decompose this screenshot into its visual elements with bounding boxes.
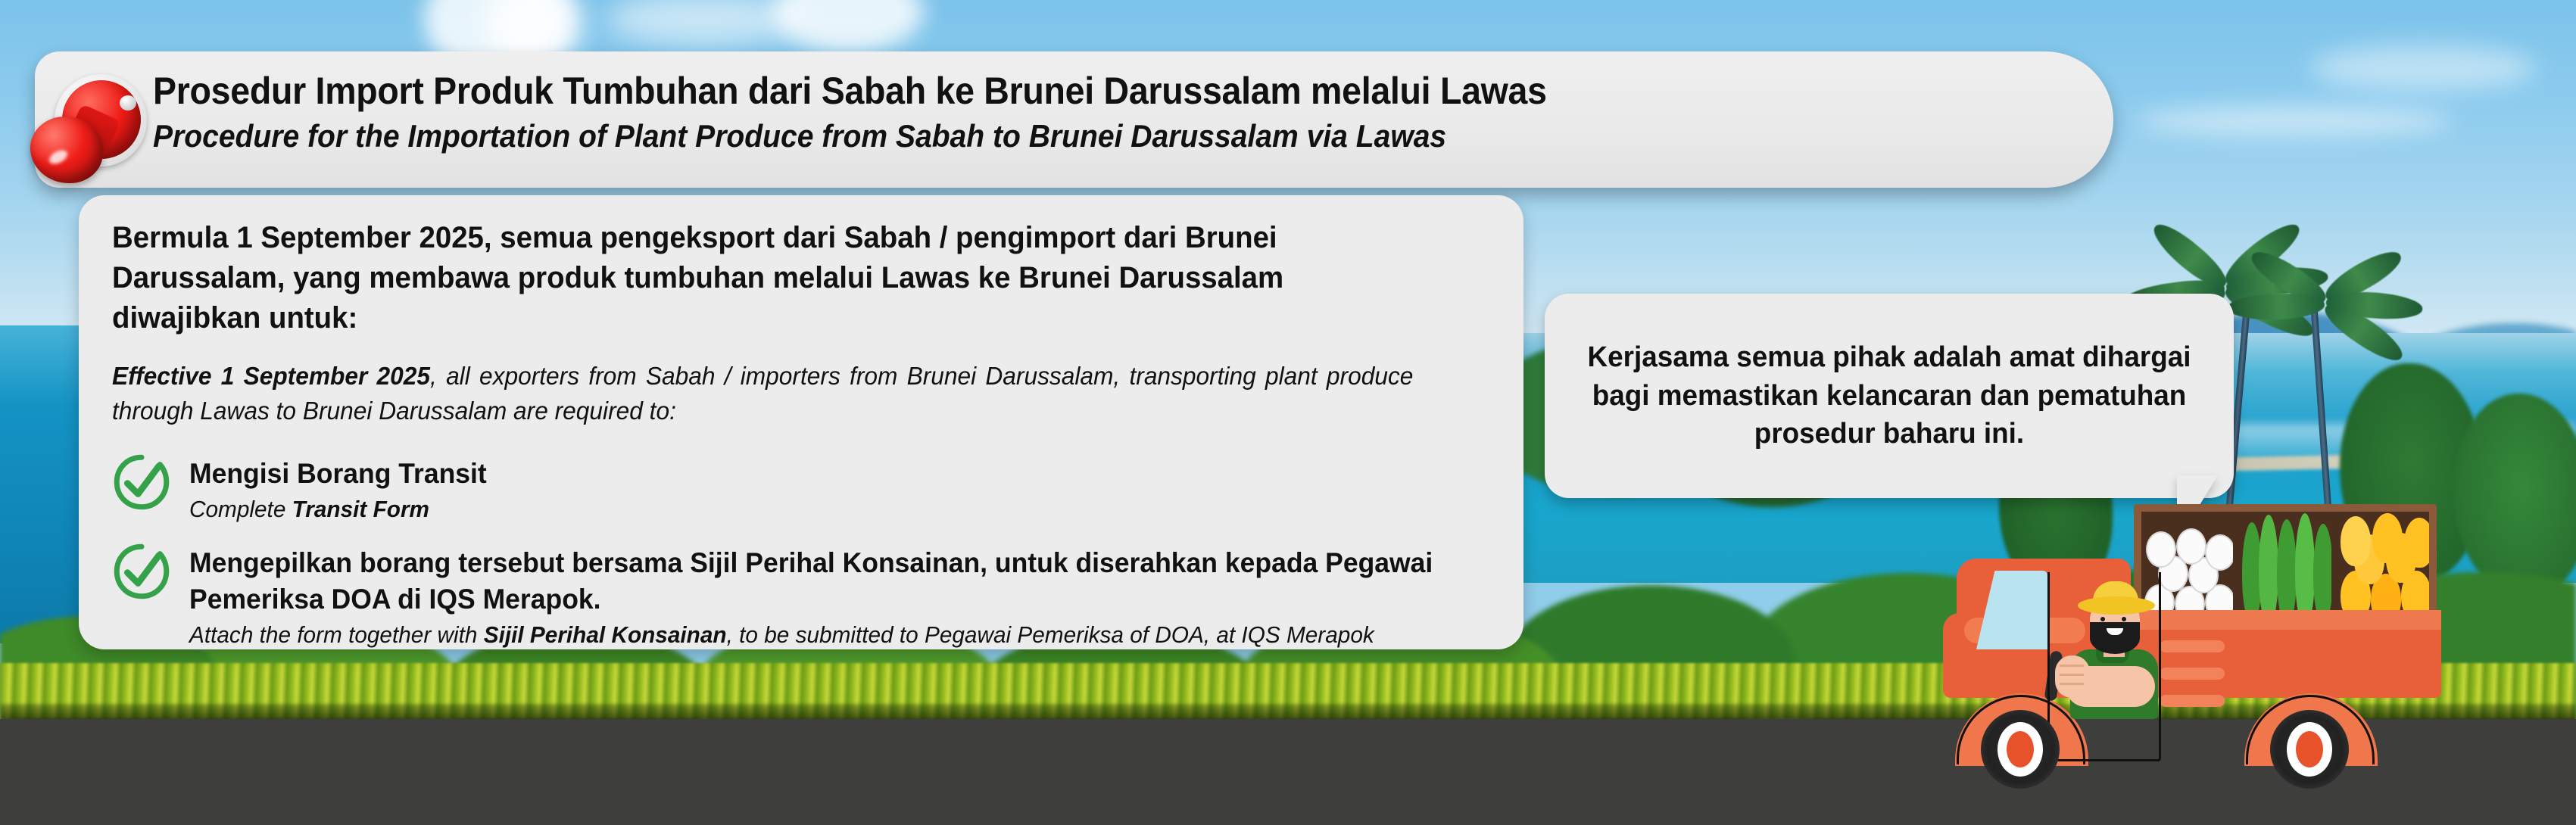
truck-wheel bbox=[1981, 710, 2060, 789]
cloud-icon bbox=[2135, 106, 2453, 136]
list-item: Mengisi Borang Transit Complete Transit … bbox=[112, 456, 1490, 525]
item-label-en: Attach the form together with Sijil Peri… bbox=[189, 620, 1438, 651]
cloud-icon bbox=[2309, 45, 2537, 91]
item-label-ms: Mengisi Borang Transit bbox=[189, 456, 1438, 492]
pin-nub bbox=[120, 95, 136, 111]
pin-head-front bbox=[30, 117, 103, 183]
green-check-circle-icon bbox=[112, 542, 171, 601]
list-item-text: Mengisi Borang Transit Complete Transit … bbox=[189, 456, 1490, 525]
corn-crate bbox=[2337, 512, 2429, 625]
list-item: Mengepilkan borang tersebut bersama Siji… bbox=[112, 545, 1490, 651]
item-label-en: Complete Transit Form bbox=[189, 494, 1438, 525]
item-en-bold: Transit Form bbox=[292, 496, 429, 522]
item-en-pre: Complete bbox=[189, 496, 292, 522]
red-push-pin-icon bbox=[23, 70, 151, 183]
list-item-text: Mengepilkan borang tersebut bersama Siji… bbox=[189, 545, 1490, 651]
lead-paragraph-en: Effective 1 September 2025, all exporter… bbox=[112, 359, 1413, 428]
page-subtitle: Procedure for the Importation of Plant P… bbox=[153, 118, 1948, 154]
speech-bubble: Kerjasama semua pihak adalah amat diharg… bbox=[1545, 294, 2234, 498]
crate-interior bbox=[2141, 512, 2429, 625]
lead-paragraph-ms: Bermula 1 September 2025, semua pengeksp… bbox=[112, 218, 1435, 339]
green-check-circle-icon bbox=[112, 453, 171, 512]
title-banner: Prosedur Import Produk Tumbuhan dari Sab… bbox=[35, 51, 2113, 188]
speech-bubble-text: Kerjasama semua pihak adalah amat diharg… bbox=[1580, 338, 2199, 454]
info-panel: Bermula 1 September 2025, semua pengeksp… bbox=[79, 195, 1523, 649]
truck-wheel bbox=[2270, 710, 2349, 789]
requirements-checklist: Mengisi Borang Transit Complete Transit … bbox=[112, 456, 1490, 651]
item-en-bold: Sijil Perihal Konsainan bbox=[484, 621, 727, 648]
item-en-post: , to be submitted to Pegawai Pemeriksa o… bbox=[727, 621, 1374, 648]
leafy-greens-crate bbox=[2239, 512, 2331, 625]
lead-ms-bold: Bermula 1 September 2025, bbox=[112, 221, 492, 254]
page-title: Prosedur Import Produk Tumbuhan dari Sab… bbox=[153, 70, 1948, 114]
item-label-ms: Mengepilkan borang tersebut bersama Siji… bbox=[189, 545, 1438, 618]
orange-pickup-truck-illustration bbox=[1943, 469, 2576, 825]
lead-en-bold: Effective 1 September 2025 bbox=[112, 362, 430, 390]
item-en-pre: Attach the form together with bbox=[189, 621, 484, 648]
